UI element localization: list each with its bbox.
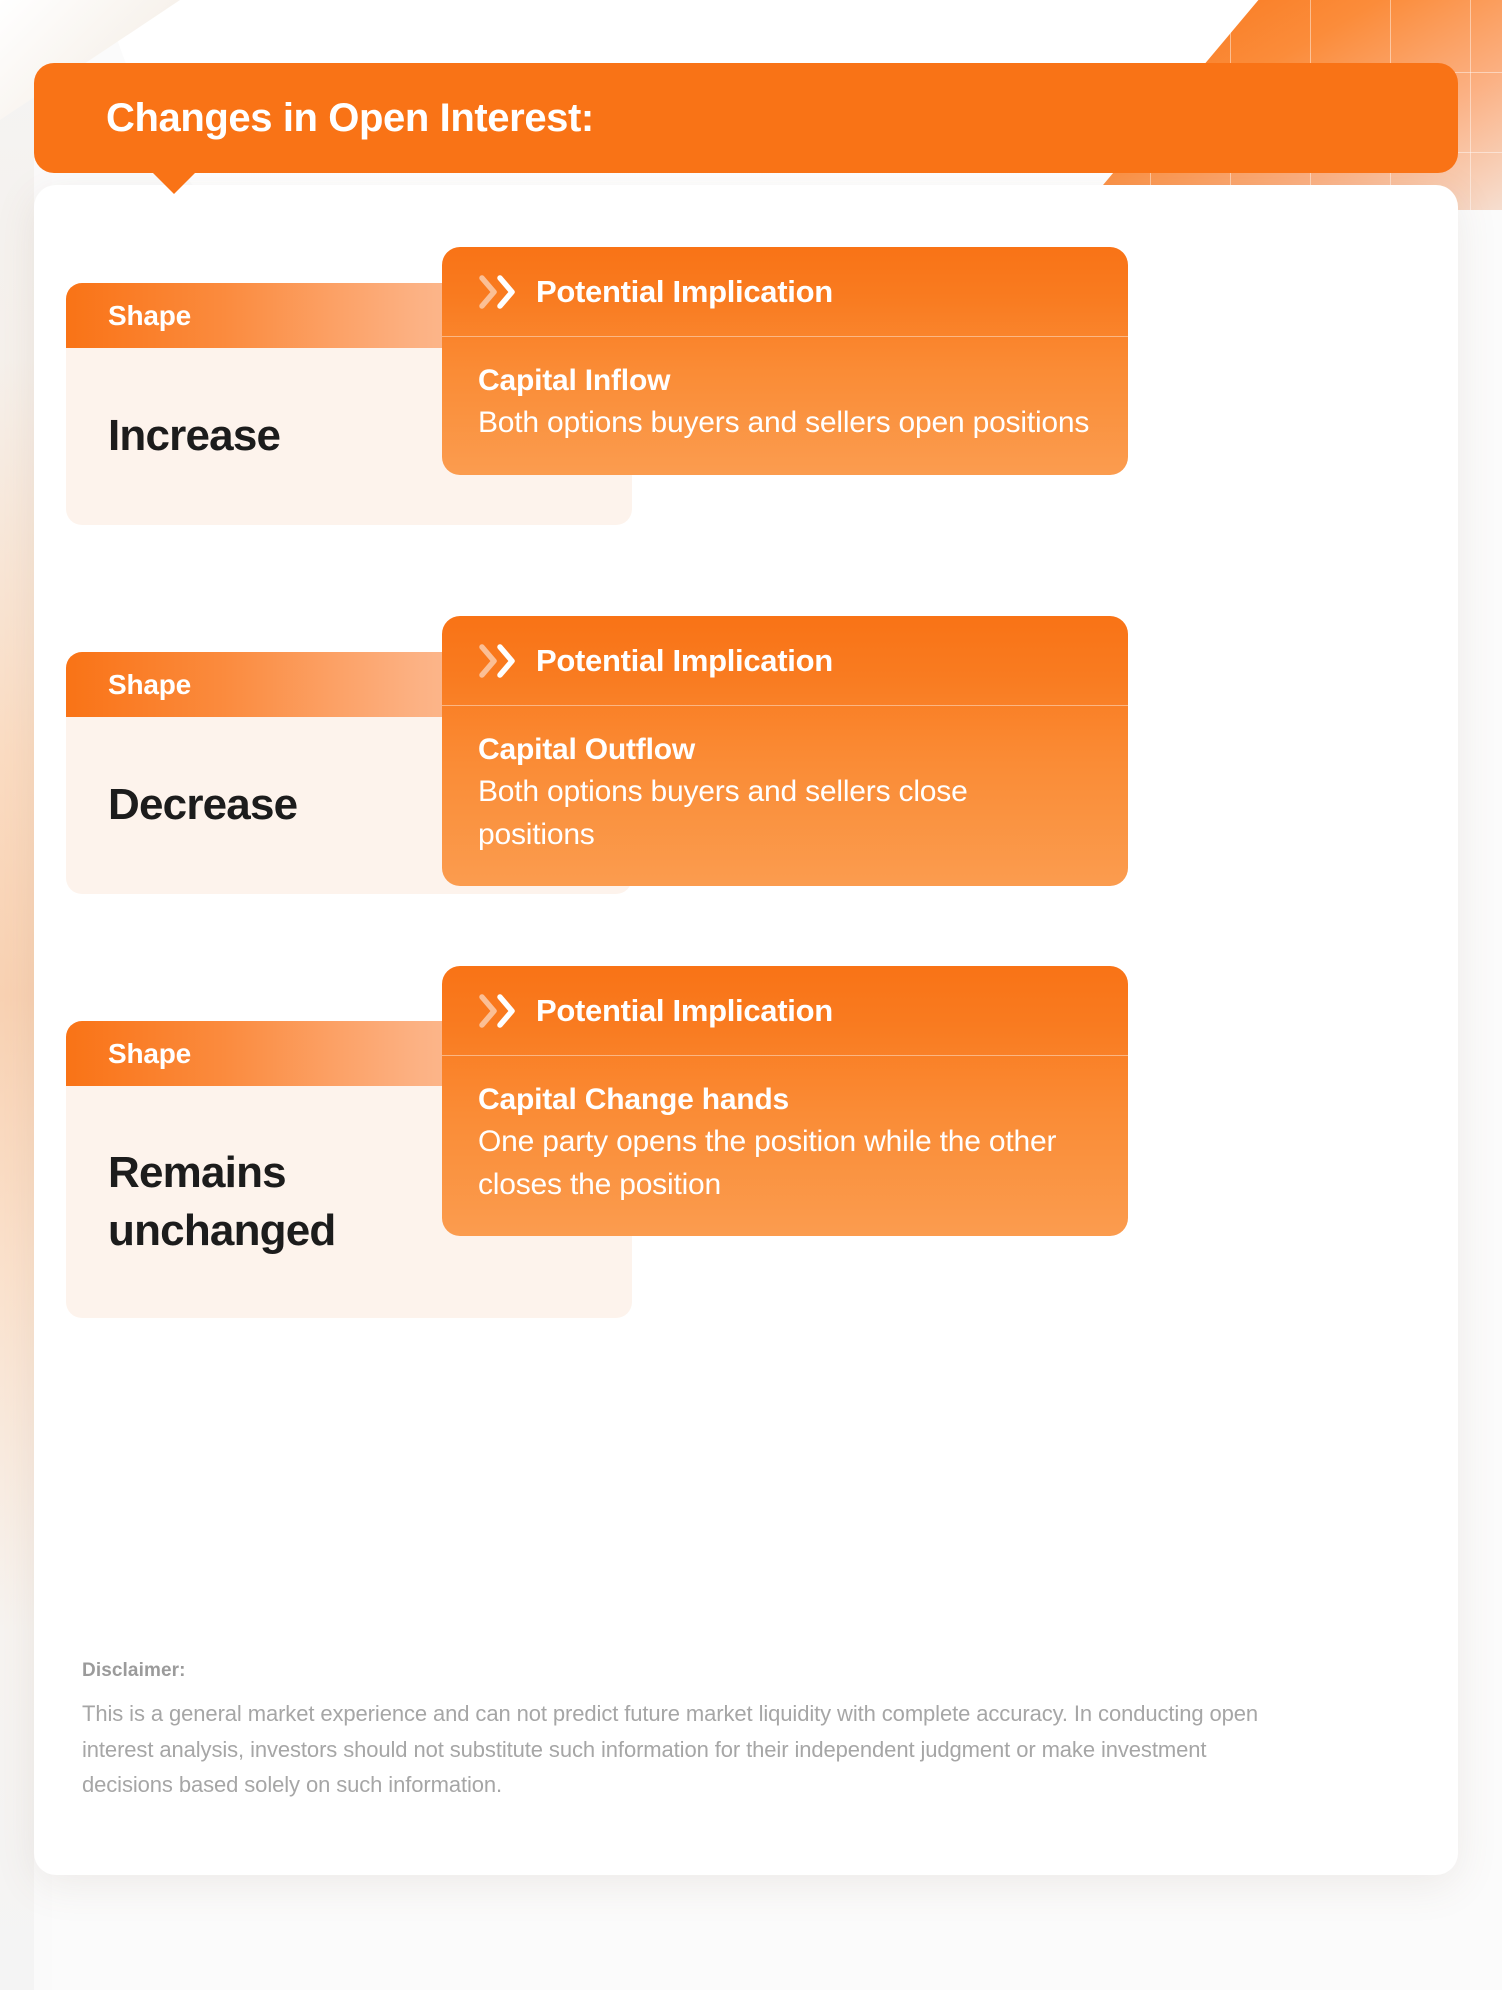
rows-container: Shape Increase Potential I (34, 185, 1458, 1289)
table-row: Shape Decrease Potential I (34, 554, 1458, 920)
implication-card-body: Capital Change hands One party opens the… (442, 1056, 1128, 1236)
shape-column-label: Shape (66, 300, 191, 332)
implication-card-header: Potential Implication (442, 616, 1128, 706)
implication-header-label: Potential Implication (536, 274, 833, 310)
implication-term: Capital Outflow (478, 730, 1092, 769)
page-title: Changes in Open Interest: (34, 96, 594, 141)
implication-header-label: Potential Implication (536, 993, 833, 1029)
implication-header-label: Potential Implication (536, 643, 833, 679)
infographic-page: Changes in Open Interest: Shape Increase (0, 0, 1502, 1990)
chevron-double-right-icon (478, 273, 518, 311)
implication-card-header: Potential Implication (442, 966, 1128, 1056)
implication-description: Both options buyers and sellers close po… (478, 771, 1092, 856)
shape-value: Remains unchanged (108, 1144, 438, 1260)
shape-value: Decrease (108, 776, 297, 834)
implication-description: One party opens the position while the o… (478, 1121, 1092, 1206)
chevron-double-right-icon (478, 642, 518, 680)
table-row: Shape Remains unchanged Po (34, 923, 1458, 1289)
implication-card: Potential Implication Capital Outflow Bo… (442, 616, 1128, 886)
chevron-double-right-icon (478, 992, 518, 1030)
shape-value: Increase (108, 407, 280, 465)
background-left-gradient-strip (0, 0, 34, 1990)
implication-card: Potential Implication Capital Inflow Bot… (442, 247, 1128, 475)
implication-description: Both options buyers and sellers open pos… (478, 402, 1092, 445)
implication-term: Capital Inflow (478, 361, 1092, 400)
disclaimer-section: Disclaimer: This is a general market exp… (34, 1660, 1458, 1803)
disclaimer-title: Disclaimer: (82, 1660, 1410, 1682)
implication-term: Capital Change hands (478, 1080, 1092, 1119)
header-banner: Changes in Open Interest: (34, 63, 1458, 173)
shape-column-label: Shape (66, 669, 191, 701)
disclaimer-body: This is a general market experience and … (82, 1696, 1272, 1803)
implication-card-header: Potential Implication (442, 247, 1128, 337)
implication-card-body: Capital Inflow Both options buyers and s… (442, 337, 1128, 475)
implication-card-body: Capital Outflow Both options buyers and … (442, 706, 1128, 886)
shape-column-label: Shape (66, 1038, 191, 1070)
implication-card: Potential Implication Capital Change han… (442, 966, 1128, 1236)
table-row: Shape Increase Potential I (34, 185, 1458, 551)
